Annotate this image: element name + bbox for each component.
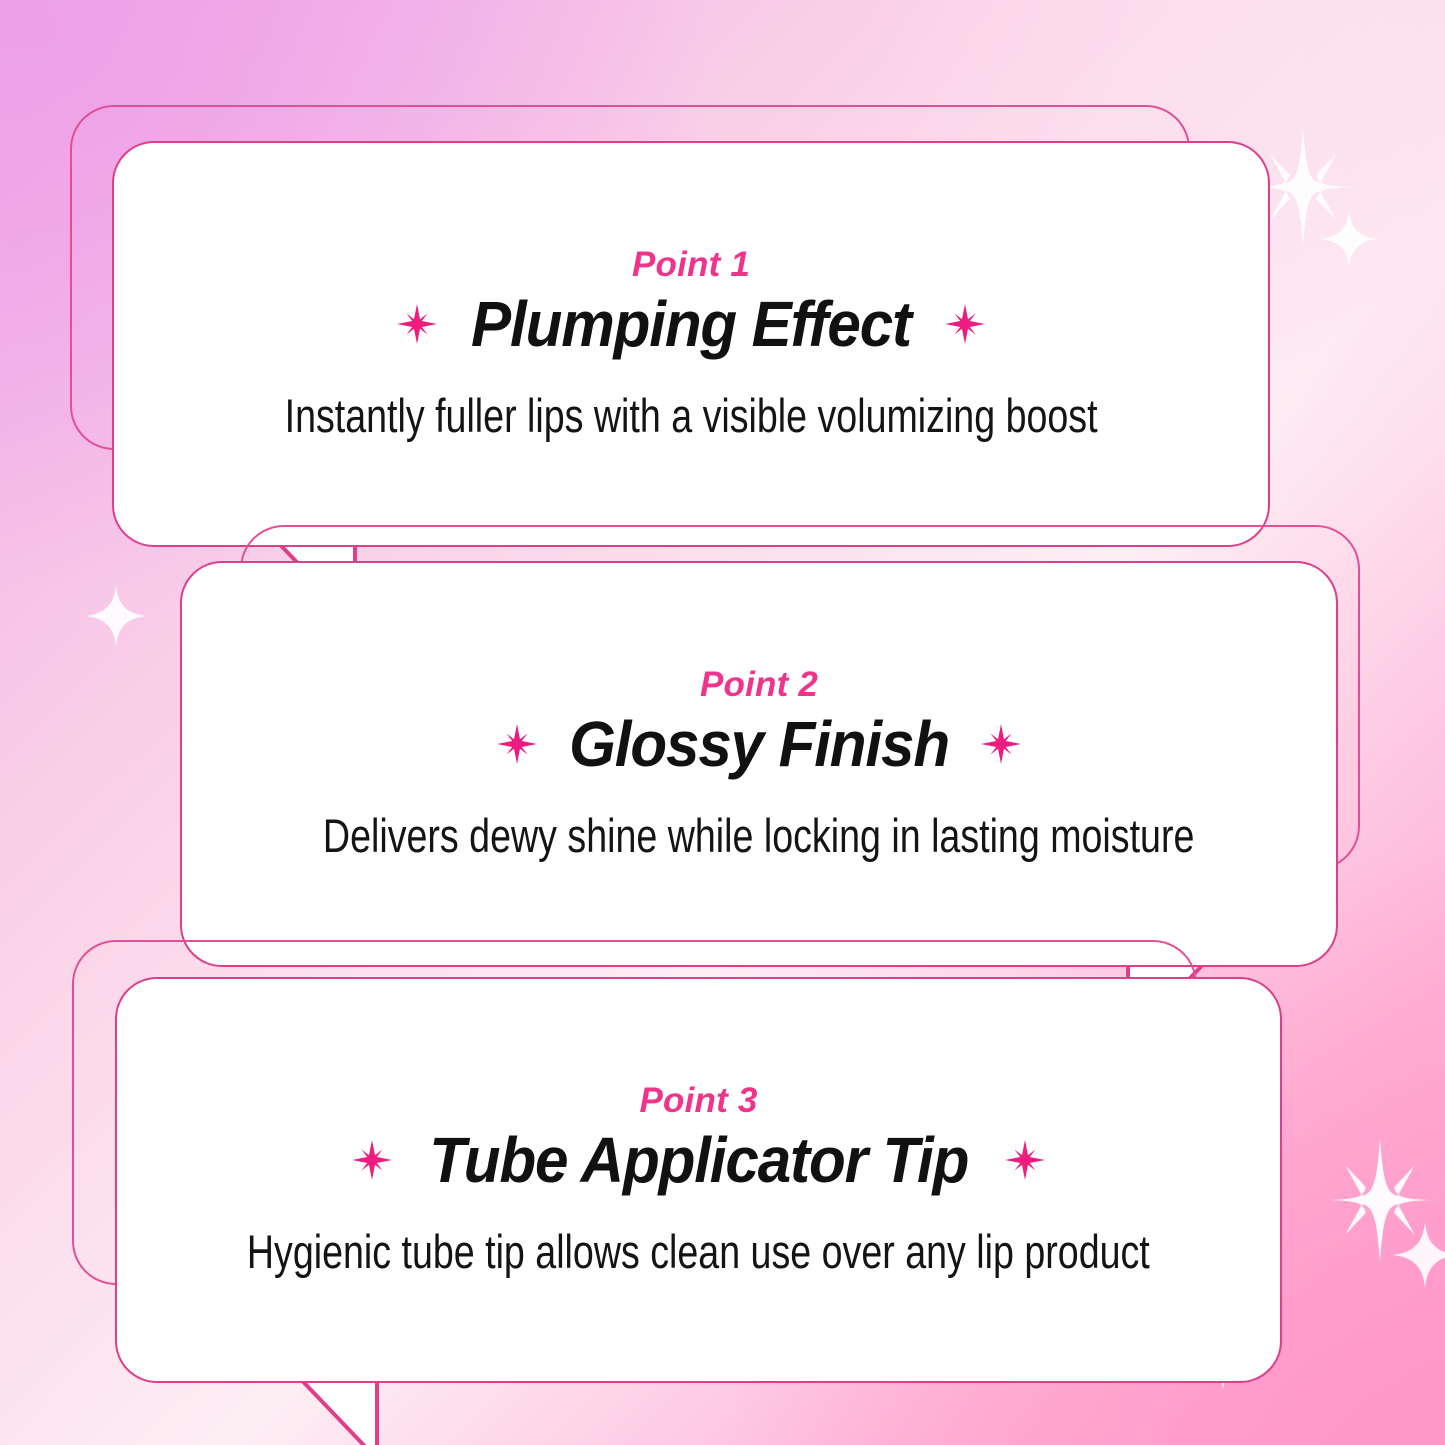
card-1-body-text: Instantly fuller lips with a visible vol… [285, 390, 1098, 442]
card-2-panel: Point 2 Glossy Finish Delivers dewy shin… [180, 561, 1338, 967]
card-2-point-label: Point 2 [700, 667, 818, 702]
sparkle-bottom-right-small-icon [1392, 1222, 1445, 1288]
sparkle-icon [497, 724, 537, 764]
sparkle-icon [1005, 1140, 1045, 1180]
card-2-body-text: Delivers dewy shine while locking in las… [323, 810, 1194, 862]
sparkle-bottom-right-large-icon [1318, 1138, 1442, 1262]
sparkle-icon [945, 304, 985, 344]
card-2-headline-row: Glossy Finish [497, 712, 1021, 776]
card-2-headline: Glossy Finish [569, 712, 949, 776]
feature-card-1: Point 1 Plumping Effect Instantly fuller… [70, 105, 1270, 505]
sparkle-icon [352, 1140, 392, 1180]
card-1-point-label: Point 1 [632, 247, 750, 282]
sparkle-icon [981, 724, 1021, 764]
feature-card-3: Point 3 Tube Applicator Tip Hygienic tub… [72, 940, 1282, 1340]
card-1-headline-row: Plumping Effect [397, 292, 985, 356]
card-3-point-label: Point 3 [639, 1083, 757, 1118]
sparkle-left-middle-icon [85, 585, 147, 647]
card-1-headline: Plumping Effect [471, 292, 911, 356]
card-3-body-text: Hygienic tube tip allows clean use over … [247, 1226, 1150, 1278]
feature-card-2: Point 2 Glossy Finish Delivers dewy shin… [180, 525, 1360, 925]
card-3-panel: Point 3 Tube Applicator Tip Hygienic tub… [115, 977, 1282, 1383]
infographic-canvas: Point 1 Plumping Effect Instantly fuller… [0, 0, 1445, 1445]
card-1-panel: Point 1 Plumping Effect Instantly fuller… [112, 141, 1270, 547]
sparkle-icon [397, 304, 437, 344]
sparkle-top-right-small-icon [1320, 210, 1378, 268]
card-3-headline-row: Tube Applicator Tip [352, 1128, 1045, 1192]
card-3-headline: Tube Applicator Tip [429, 1128, 968, 1192]
